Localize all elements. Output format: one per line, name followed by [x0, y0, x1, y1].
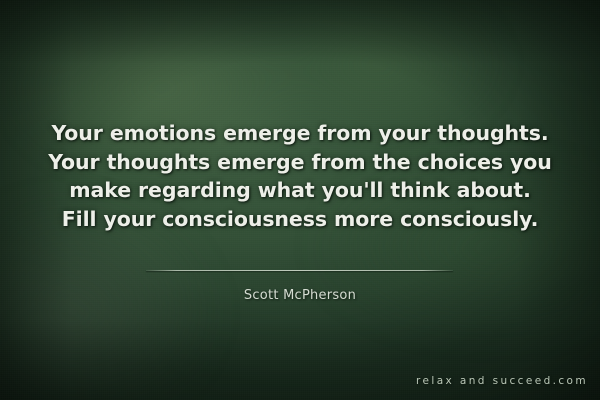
site-watermark: relax and succeed.com — [416, 375, 588, 387]
quote-attribution: Scott McPherson — [0, 288, 600, 303]
content-area: Your emotions emerge from your thoughts.… — [0, 0, 600, 400]
quote-image: Your emotions emerge from your thoughts.… — [0, 0, 600, 400]
quote-line-3: make regarding what you'll think about. — [0, 176, 600, 205]
quote-text: Your emotions emerge from your thoughts.… — [0, 119, 600, 233]
quote-line-1: Your emotions emerge from your thoughts. — [0, 119, 600, 148]
quote-line-4: Fill your consciousness more consciously… — [0, 205, 600, 234]
quote-line-2: Your thoughts emerge from the choices yo… — [0, 148, 600, 177]
divider-rule — [146, 270, 453, 271]
